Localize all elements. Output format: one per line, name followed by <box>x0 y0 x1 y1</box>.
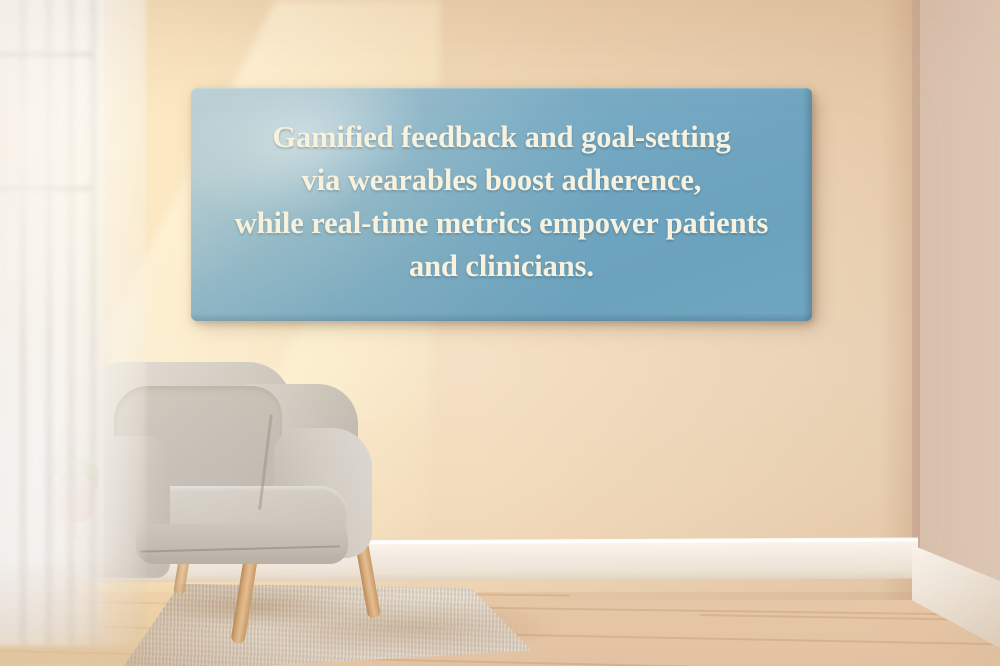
wall-canvas-print[interactable]: Gamified feedback and goal-setting via w… <box>191 88 812 321</box>
room-scene: Gamified feedback and goal-setting via w… <box>0 0 1000 666</box>
right-side-wall <box>912 0 1000 600</box>
window-light-glow <box>0 0 110 410</box>
canvas-edge-shading-right <box>803 88 812 321</box>
canvas-quote-text: Gamified feedback and goal-setting via w… <box>191 116 812 288</box>
curtain-floor-shadow <box>0 556 146 666</box>
canvas-edge-shading-bottom <box>191 313 812 321</box>
